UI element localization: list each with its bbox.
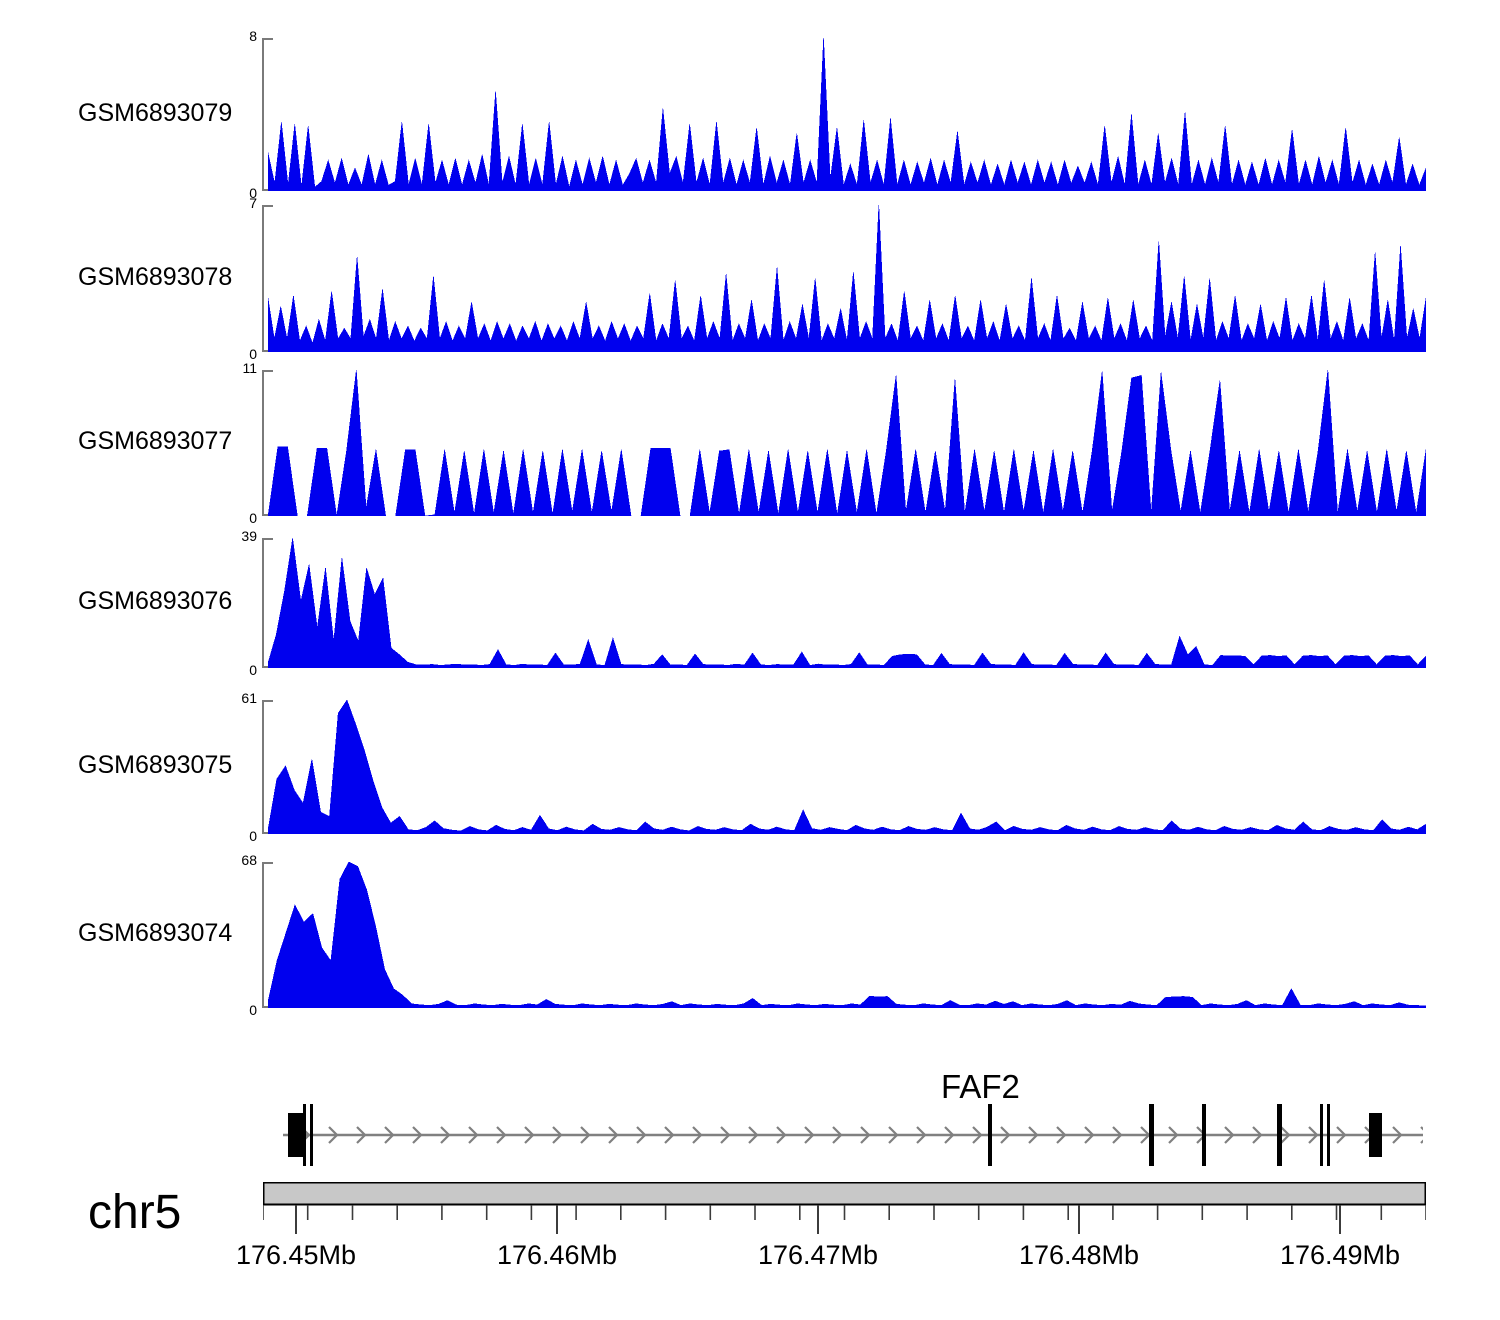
axis-max-label: 61 bbox=[241, 691, 257, 705]
coverage-plot-area[interactable] bbox=[268, 38, 1426, 191]
gene-model-track: FAF2 bbox=[0, 1060, 1500, 1190]
axis-min-label: 0 bbox=[249, 511, 257, 525]
axis-tick-label: 176.49Mb bbox=[1250, 1240, 1430, 1271]
axis-tick-label: 176.45Mb bbox=[206, 1240, 386, 1271]
axis-max-label: 11 bbox=[242, 361, 257, 375]
coverage-plot-area[interactable] bbox=[268, 538, 1426, 668]
track-label: GSM6893074 bbox=[78, 919, 258, 948]
coverage-plot-area[interactable] bbox=[268, 700, 1426, 834]
coverage-track-gsm6893075: GSM6893075610 bbox=[0, 700, 1500, 834]
axis-max-label: 7 bbox=[249, 196, 257, 210]
axis-tick-label: 176.46Mb bbox=[467, 1240, 647, 1271]
axis-tick-label: 176.47Mb bbox=[728, 1240, 908, 1271]
genome-browser-figure: GSM689307980GSM689307870GSM6893077110GSM… bbox=[0, 0, 1500, 1320]
axis-min-label: 0 bbox=[249, 347, 257, 361]
gene-model-svg[interactable] bbox=[263, 1100, 1423, 1170]
axis-max-label: 39 bbox=[241, 529, 257, 543]
track-label: GSM6893076 bbox=[78, 587, 258, 616]
axis-tick-label: 176.48Mb bbox=[989, 1240, 1169, 1271]
track-label: GSM6893079 bbox=[78, 99, 258, 128]
coverage-track-gsm6893076: GSM6893076390 bbox=[0, 538, 1500, 668]
genome-axis-ruler: 176.45Mb176.46Mb176.47Mb176.48Mb176.49Mb bbox=[0, 1182, 1500, 1302]
coverage-track-gsm6893074: GSM6893074680 bbox=[0, 862, 1500, 1008]
axis-min-label: 0 bbox=[249, 829, 257, 843]
axis-min-label: 0 bbox=[249, 663, 257, 677]
coverage-plot-area[interactable] bbox=[268, 370, 1426, 516]
coverage-plot-area[interactable] bbox=[268, 205, 1426, 352]
coverage-plot-area[interactable] bbox=[268, 862, 1426, 1008]
coverage-track-gsm6893077: GSM6893077110 bbox=[0, 370, 1500, 516]
track-label: GSM6893077 bbox=[78, 427, 258, 456]
coverage-track-gsm6893078: GSM689307870 bbox=[0, 205, 1500, 352]
axis-max-label: 68 bbox=[241, 853, 257, 867]
axis-max-label: 8 bbox=[249, 29, 257, 43]
axis-min-label: 0 bbox=[249, 1003, 257, 1017]
track-label: GSM6893075 bbox=[78, 751, 258, 780]
track-label: GSM6893078 bbox=[78, 263, 258, 292]
ideogram-svg[interactable] bbox=[263, 1182, 1426, 1237]
coverage-track-gsm6893079: GSM689307980 bbox=[0, 38, 1500, 191]
